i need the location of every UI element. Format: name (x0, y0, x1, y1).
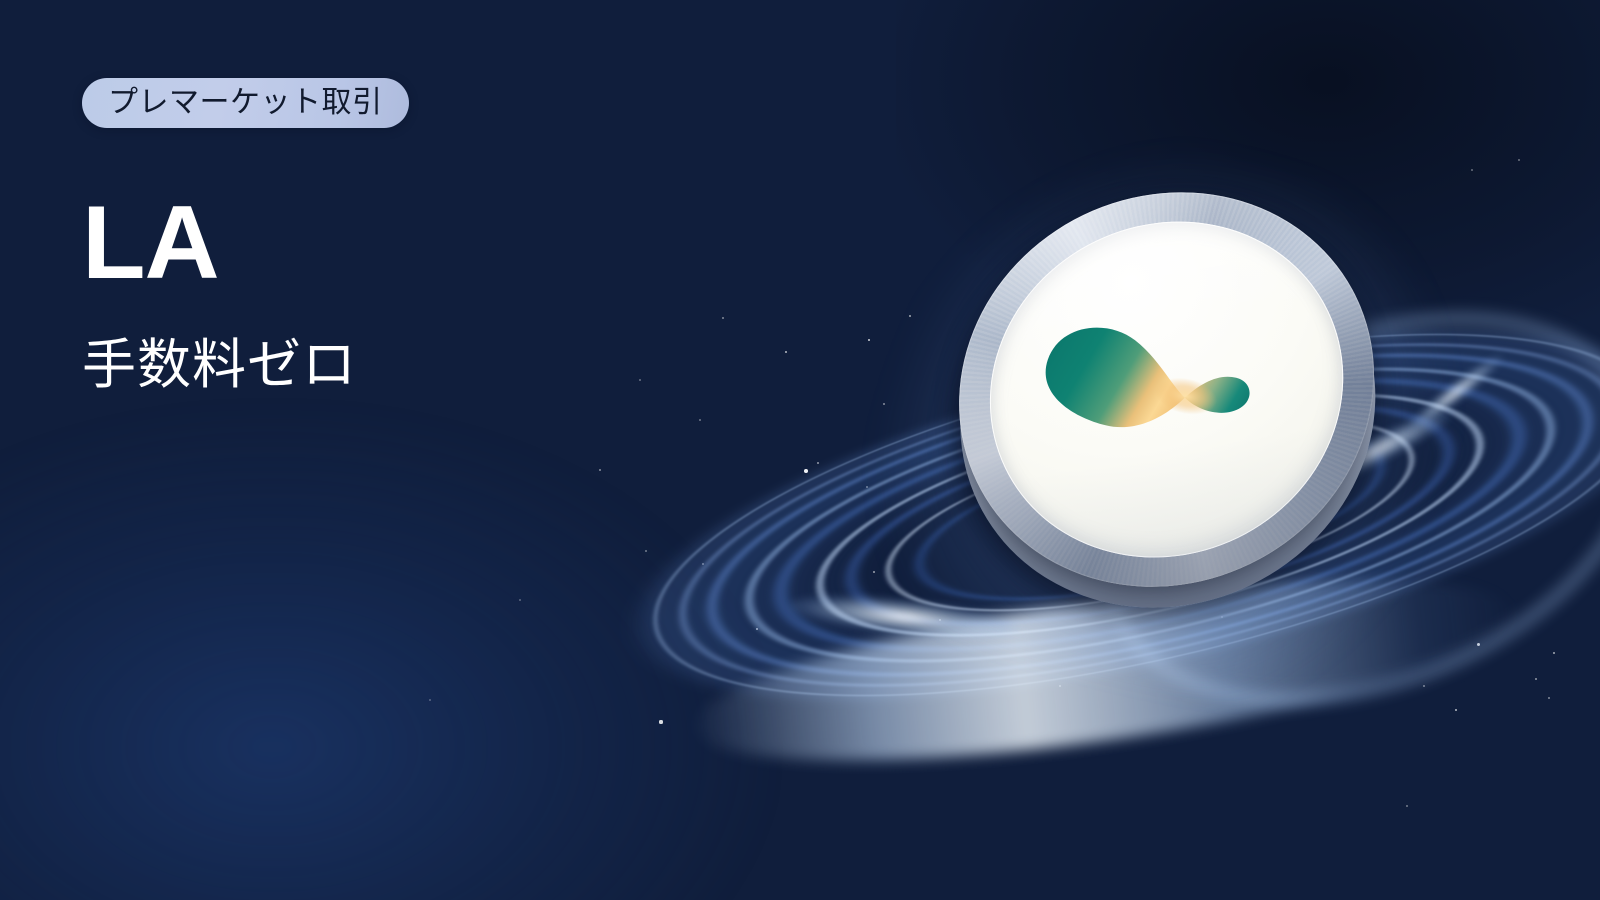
page-subtitle: 手数料ゼロ (82, 334, 842, 396)
promo-banner: プレマーケット取引 LA 手数料ゼロ (0, 0, 1600, 900)
star (519, 599, 521, 601)
star (1406, 805, 1408, 807)
pre-market-badge[interactable]: プレマーケット取引 (82, 78, 409, 128)
pre-market-badge-label: プレマーケット取引 (108, 88, 383, 118)
token-coin (896, 150, 1455, 661)
page-title: LA (82, 196, 842, 292)
text-block: プレマーケット取引 LA 手数料ゼロ (82, 78, 842, 396)
star (429, 699, 431, 701)
